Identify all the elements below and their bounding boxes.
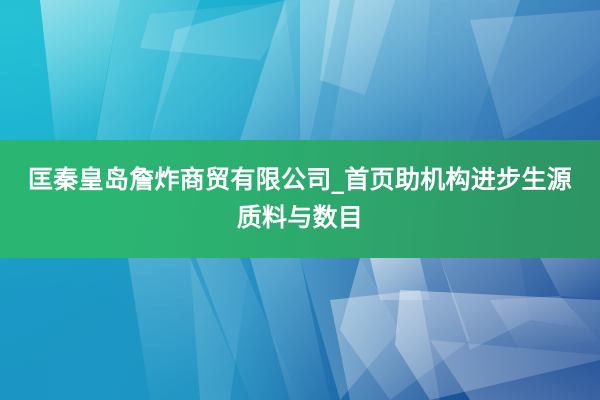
- banner-title-line-1: 匡秦皇岛詹炸商贸有限公司_首页助机构进步生源: [28, 161, 572, 199]
- shard-group-bottom: [128, 258, 600, 400]
- title-band: 匡秦皇岛詹炸商贸有限公司_首页助机构进步生源 质料与数目: [0, 140, 600, 258]
- banner-title-line-2: 质料与数目: [237, 199, 364, 237]
- banner-image: 匡秦皇岛詹炸商贸有限公司_首页助机构进步生源 质料与数目: [0, 0, 600, 400]
